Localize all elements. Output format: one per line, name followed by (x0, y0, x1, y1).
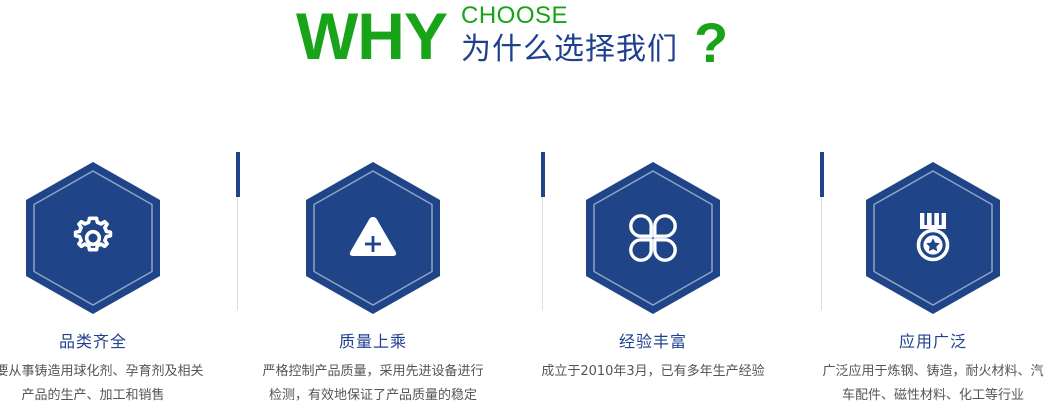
header-middle-stack: CHOOSE 为什么选择我们 (461, 3, 678, 69)
feature-column: 经验丰富 成立于2010年3月，已有多年生产经验 (533, 140, 773, 384)
divider-blue-segment (820, 152, 824, 197)
feature-title: 经验丰富 (533, 332, 773, 352)
feature-column: 品类齐全 主要从事铸造用球化剂、孕育剂及相关产品的生产、加工和销售 (0, 140, 213, 408)
gear-icon (26, 162, 160, 314)
column-divider (541, 152, 545, 310)
feature-description: 成立于2010年3月，已有多年生产经验 (533, 360, 773, 384)
medal-star-icon (866, 162, 1000, 314)
column-divider (236, 152, 240, 310)
feature-description: 主要从事铸造用球化剂、孕育剂及相关产品的生产、加工和销售 (0, 360, 213, 408)
feature-hexagon-badge (586, 162, 720, 314)
divider-grey-segment (237, 197, 238, 310)
feature-hexagon-badge (866, 162, 1000, 314)
divider-blue-segment (236, 152, 240, 197)
feature-description: 广泛应用于炼钢、铸造，耐火材料、汽车配件、磁性材料、化工等行业 (813, 360, 1053, 408)
header-choose-word: CHOOSE (461, 3, 678, 29)
triangle-plus-icon (306, 162, 440, 314)
header-chinese-title: 为什么选择我们 (461, 31, 678, 69)
feature-description: 严格控制产品质量，采用先进设备进行检测，有效地保证了产品质量的稳定 (253, 360, 493, 408)
header-question-mark: ? (694, 14, 728, 72)
feature-title: 品类齐全 (0, 332, 213, 352)
divider-blue-segment (541, 152, 545, 197)
feature-hexagon-badge (26, 162, 160, 314)
feature-column: 质量上乘 严格控制产品质量，采用先进设备进行检测，有效地保证了产品质量的稳定 (253, 140, 493, 408)
feature-title: 质量上乘 (253, 332, 493, 352)
column-divider (820, 152, 824, 310)
header-why-word: WHY (296, 0, 447, 72)
feature-column: 应用广泛 广泛应用于炼钢、铸造，耐火材料、汽车配件、磁性材料、化工等行业 (813, 140, 1053, 408)
divider-grey-segment (821, 197, 822, 310)
feature-title: 应用广泛 (813, 332, 1053, 352)
header-title-group: WHY CHOOSE 为什么选择我们 ? (296, 0, 728, 72)
four-petal-clover-icon (586, 162, 720, 314)
feature-columns: 品类齐全 主要从事铸造用球化剂、孕育剂及相关产品的生产、加工和销售 质量上乘 严… (0, 140, 1055, 416)
feature-hexagon-badge (306, 162, 440, 314)
section-header: WHY CHOOSE 为什么选择我们 ? (0, 0, 1055, 92)
divider-grey-segment (542, 197, 543, 310)
